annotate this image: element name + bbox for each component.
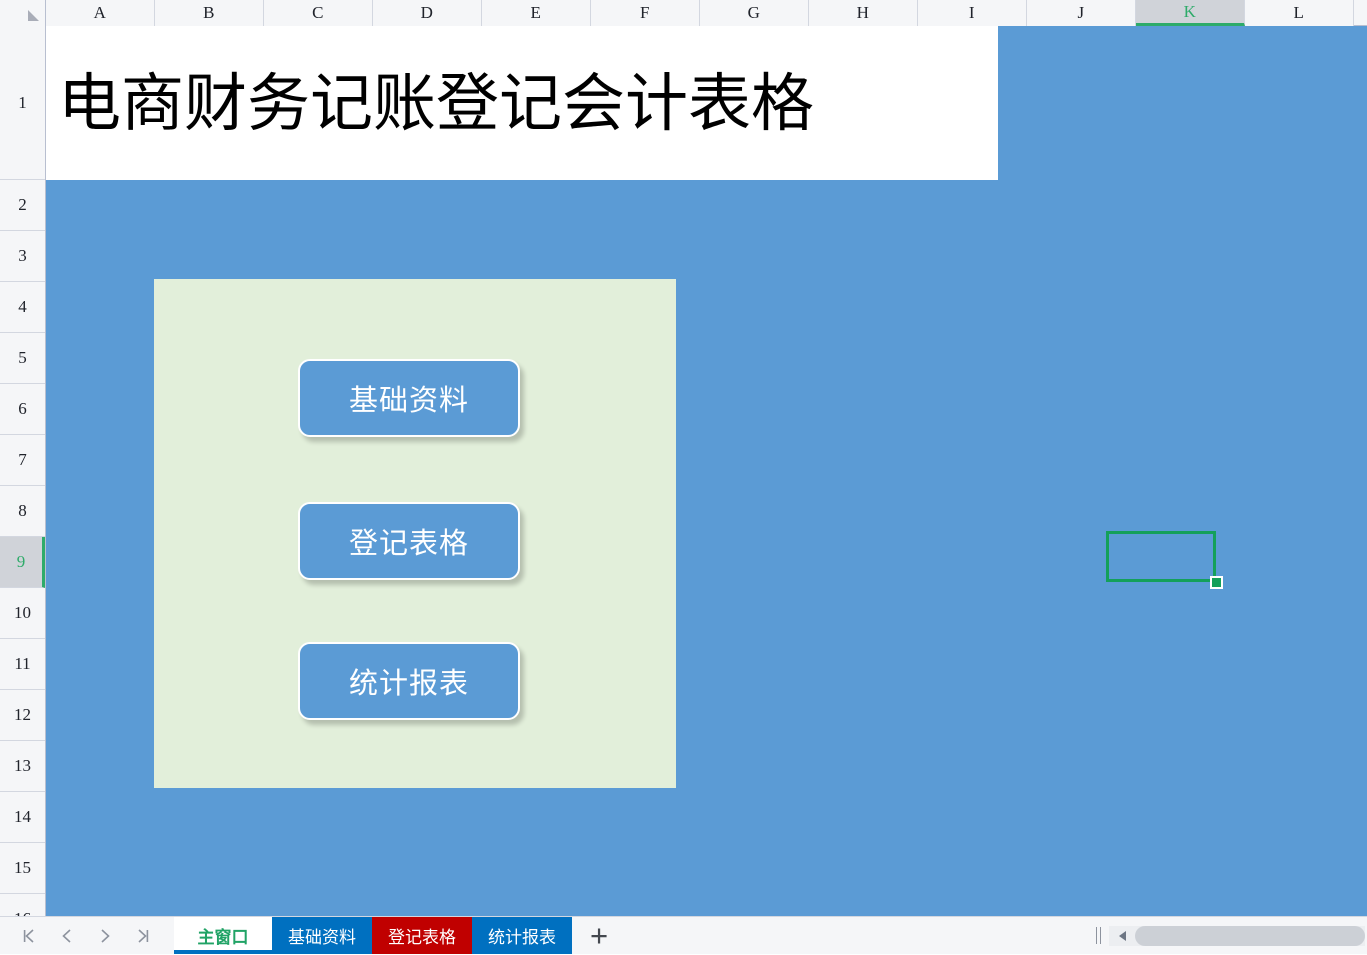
row-header-16[interactable]: 16 <box>0 894 45 916</box>
sheet-tab-2[interactable]: 基础资料 <box>272 917 372 954</box>
nav-button-basic-data[interactable]: 基础资料 <box>298 359 520 437</box>
row-header-10[interactable]: 10 <box>0 588 45 639</box>
horizontal-scrollbar[interactable] <box>1109 926 1365 946</box>
nav-button-basic-data-label: 基础资料 <box>349 377 469 419</box>
title-banner-cell[interactable]: 电商财务记账登记会计表格 <box>46 26 998 180</box>
row-header-1[interactable]: 1 <box>0 26 45 180</box>
select-all-triangle-icon <box>28 10 39 21</box>
row-header-2[interactable]: 2 <box>0 180 45 231</box>
next-sheet-icon[interactable] <box>86 917 124 955</box>
row-header-11[interactable]: 11 <box>0 639 45 690</box>
last-sheet-icon[interactable] <box>124 917 162 955</box>
row-header-12[interactable]: 12 <box>0 690 45 741</box>
sheet-tab-4[interactable]: 统计报表 <box>472 917 572 954</box>
row-header-3[interactable]: 3 <box>0 231 45 282</box>
row-header-15[interactable]: 15 <box>0 843 45 894</box>
bottom-bar-spacer <box>626 917 1087 954</box>
sheet-navigation-buttons <box>0 917 168 954</box>
nav-button-statistics-report[interactable]: 统计报表 <box>298 642 520 720</box>
row-header-5[interactable]: 5 <box>0 333 45 384</box>
column-header-strip: ABCDEFGHIJKL <box>0 0 1367 26</box>
row-header-4[interactable]: 4 <box>0 282 45 333</box>
column-header-l[interactable]: L <box>1245 0 1354 26</box>
row-header-14[interactable]: 14 <box>0 792 45 843</box>
split-handle-icon[interactable] <box>1087 917 1109 955</box>
sheet-canvas[interactable]: 电商财务记账登记会计表格 基础资料 登记表格 统计报表 <box>46 26 1367 916</box>
row-header-8[interactable]: 8 <box>0 486 45 537</box>
active-cell-selection-k9[interactable] <box>1106 531 1216 582</box>
sheet-tabs: 主窗口基础资料登记表格统计报表 <box>174 917 572 954</box>
row-header-9[interactable]: 9 <box>0 537 45 588</box>
menu-panel: 基础资料 登记表格 统计报表 <box>154 279 676 788</box>
column-header-k[interactable]: K <box>1136 0 1245 26</box>
scroll-left-icon[interactable] <box>1109 926 1135 946</box>
nav-button-register-form[interactable]: 登记表格 <box>298 502 520 580</box>
select-all-corner-button[interactable] <box>0 0 46 26</box>
column-header-c[interactable]: C <box>264 0 373 26</box>
column-header-g[interactable]: G <box>700 0 809 26</box>
column-header-f[interactable]: F <box>591 0 700 26</box>
row-header-strip: 12345678910111213141516 <box>0 26 46 916</box>
column-header-i[interactable]: I <box>918 0 1027 26</box>
row-header-7[interactable]: 7 <box>0 435 45 486</box>
column-header-h[interactable]: H <box>809 0 918 26</box>
column-header-j[interactable]: J <box>1027 0 1136 26</box>
column-header-e[interactable]: E <box>482 0 591 26</box>
sheet-tab-3[interactable]: 登记表格 <box>372 917 472 954</box>
page-title: 电商财务记账登记会计表格 <box>46 72 814 135</box>
first-sheet-icon[interactable] <box>10 917 48 955</box>
horizontal-scrollbar-thumb[interactable] <box>1135 926 1365 946</box>
horizontal-scroll-region <box>1087 917 1367 954</box>
nav-button-statistics-report-label: 统计报表 <box>349 660 469 702</box>
sheet-tab-1[interactable]: 主窗口 <box>174 917 272 954</box>
column-header-d[interactable]: D <box>373 0 482 26</box>
nav-button-register-form-label: 登记表格 <box>349 520 469 562</box>
add-sheet-button[interactable]: + <box>572 917 626 954</box>
previous-sheet-icon[interactable] <box>48 917 86 955</box>
fill-handle[interactable] <box>1210 576 1223 589</box>
column-header-a[interactable]: A <box>46 0 155 26</box>
spreadsheet-application: ABCDEFGHIJKL 12345678910111213141516 电商财… <box>0 0 1367 954</box>
column-header-b[interactable]: B <box>155 0 264 26</box>
row-header-6[interactable]: 6 <box>0 384 45 435</box>
sheet-tab-bar: 主窗口基础资料登记表格统计报表 + <box>0 916 1367 954</box>
row-header-13[interactable]: 13 <box>0 741 45 792</box>
